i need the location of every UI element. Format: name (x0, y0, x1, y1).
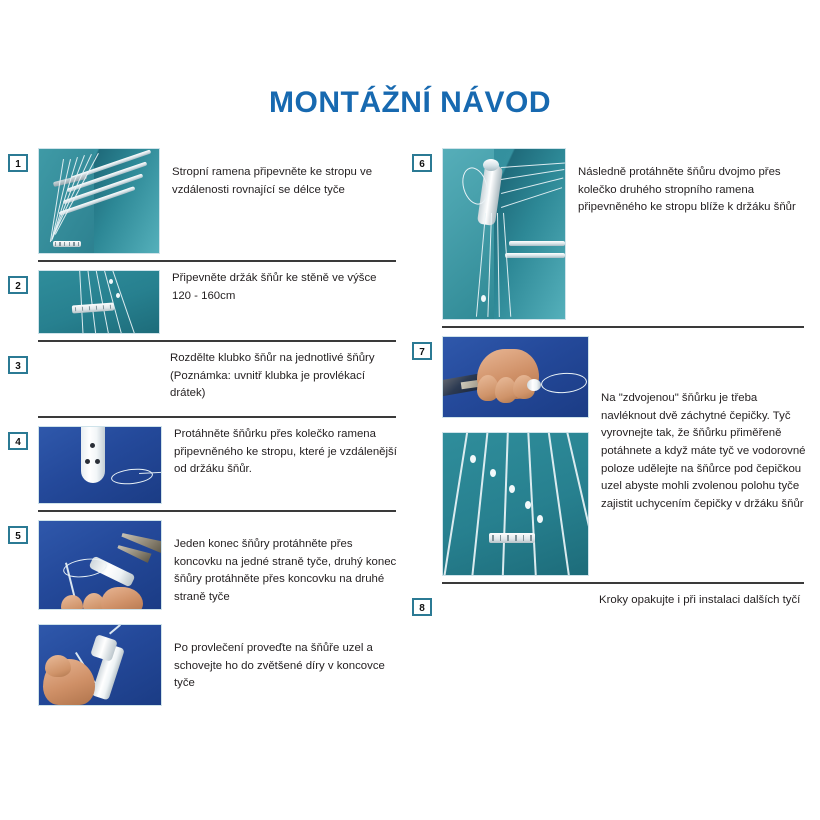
step-badge-2: 2 (8, 276, 28, 294)
step-badge-7: 7 (412, 342, 432, 360)
step-badge-4: 4 (8, 432, 28, 450)
step-5: 5 Jeden konec šňůry protáhněte přes konc… (8, 510, 404, 616)
step-caption-7: Na "zdvojenou" šňůrku je třeba navléknou… (589, 334, 812, 514)
step-caption-6: Následně protáhněte šňůru dvojmo přes ko… (566, 146, 812, 217)
step-3: 3 Rozdělte klubko šňůr na jednotlivé šňů… (8, 340, 404, 416)
step-caption-5: Jeden konec šňůry protáhněte přes koncov… (162, 518, 404, 607)
step-image-3-empty (38, 350, 158, 352)
step-image-7b (442, 432, 589, 576)
step-caption-1: Stropní ramena připevněte ke stropu ve v… (160, 146, 404, 199)
step-image-7-group (442, 336, 589, 576)
step-8: 8 Kroky opakujte i při instalaci dalších… (412, 582, 812, 644)
step-image-7a (442, 336, 589, 418)
step-image-8-empty (442, 592, 587, 594)
step-badge-3: 3 (8, 356, 28, 374)
step-4: 4 Protáhněte šňůrku přes kolečko ramena … (8, 416, 404, 510)
step-image-6 (442, 148, 566, 320)
step-image-2 (38, 270, 160, 334)
step-caption-2: Připevněte držák šňůr ke stěně ve výšce … (160, 268, 404, 305)
step-image-1 (38, 148, 160, 254)
step-7: 7 (412, 326, 812, 582)
right-column: 6 (412, 140, 812, 644)
step-badge-spacer (8, 622, 28, 624)
left-column: 1 (8, 140, 404, 712)
instruction-manual-page: MONTÁŽNÍ NÁVOD 1 (0, 0, 820, 820)
step-caption-8: Kroky opakujte i při instalaci dalších t… (587, 590, 812, 610)
step-badge-5: 5 (8, 526, 28, 544)
step-2: 2 Připevněte držák š (8, 260, 404, 340)
step-image-5b (38, 624, 162, 706)
step-1: 1 (8, 140, 404, 260)
step-badge-1: 1 (8, 154, 28, 172)
step-caption-3: Rozdělte klubko šňůr na jednotlivé šňůry… (158, 348, 404, 403)
step-caption-4: Protáhněte šňůrku přes kolečko ramena př… (162, 424, 404, 479)
step-5-sub: Po provlečení proveďte na šňůře uzel a s… (8, 616, 404, 712)
step-image-5 (38, 520, 162, 610)
step-caption-5b: Po provlečení proveďte na šňůře uzel a s… (162, 622, 404, 693)
step-image-4 (38, 426, 162, 504)
page-title: MONTÁŽNÍ NÁVOD (0, 86, 820, 120)
step-badge-8: 8 (412, 598, 432, 616)
step-6: 6 (412, 140, 812, 326)
step-badge-6: 6 (412, 154, 432, 172)
